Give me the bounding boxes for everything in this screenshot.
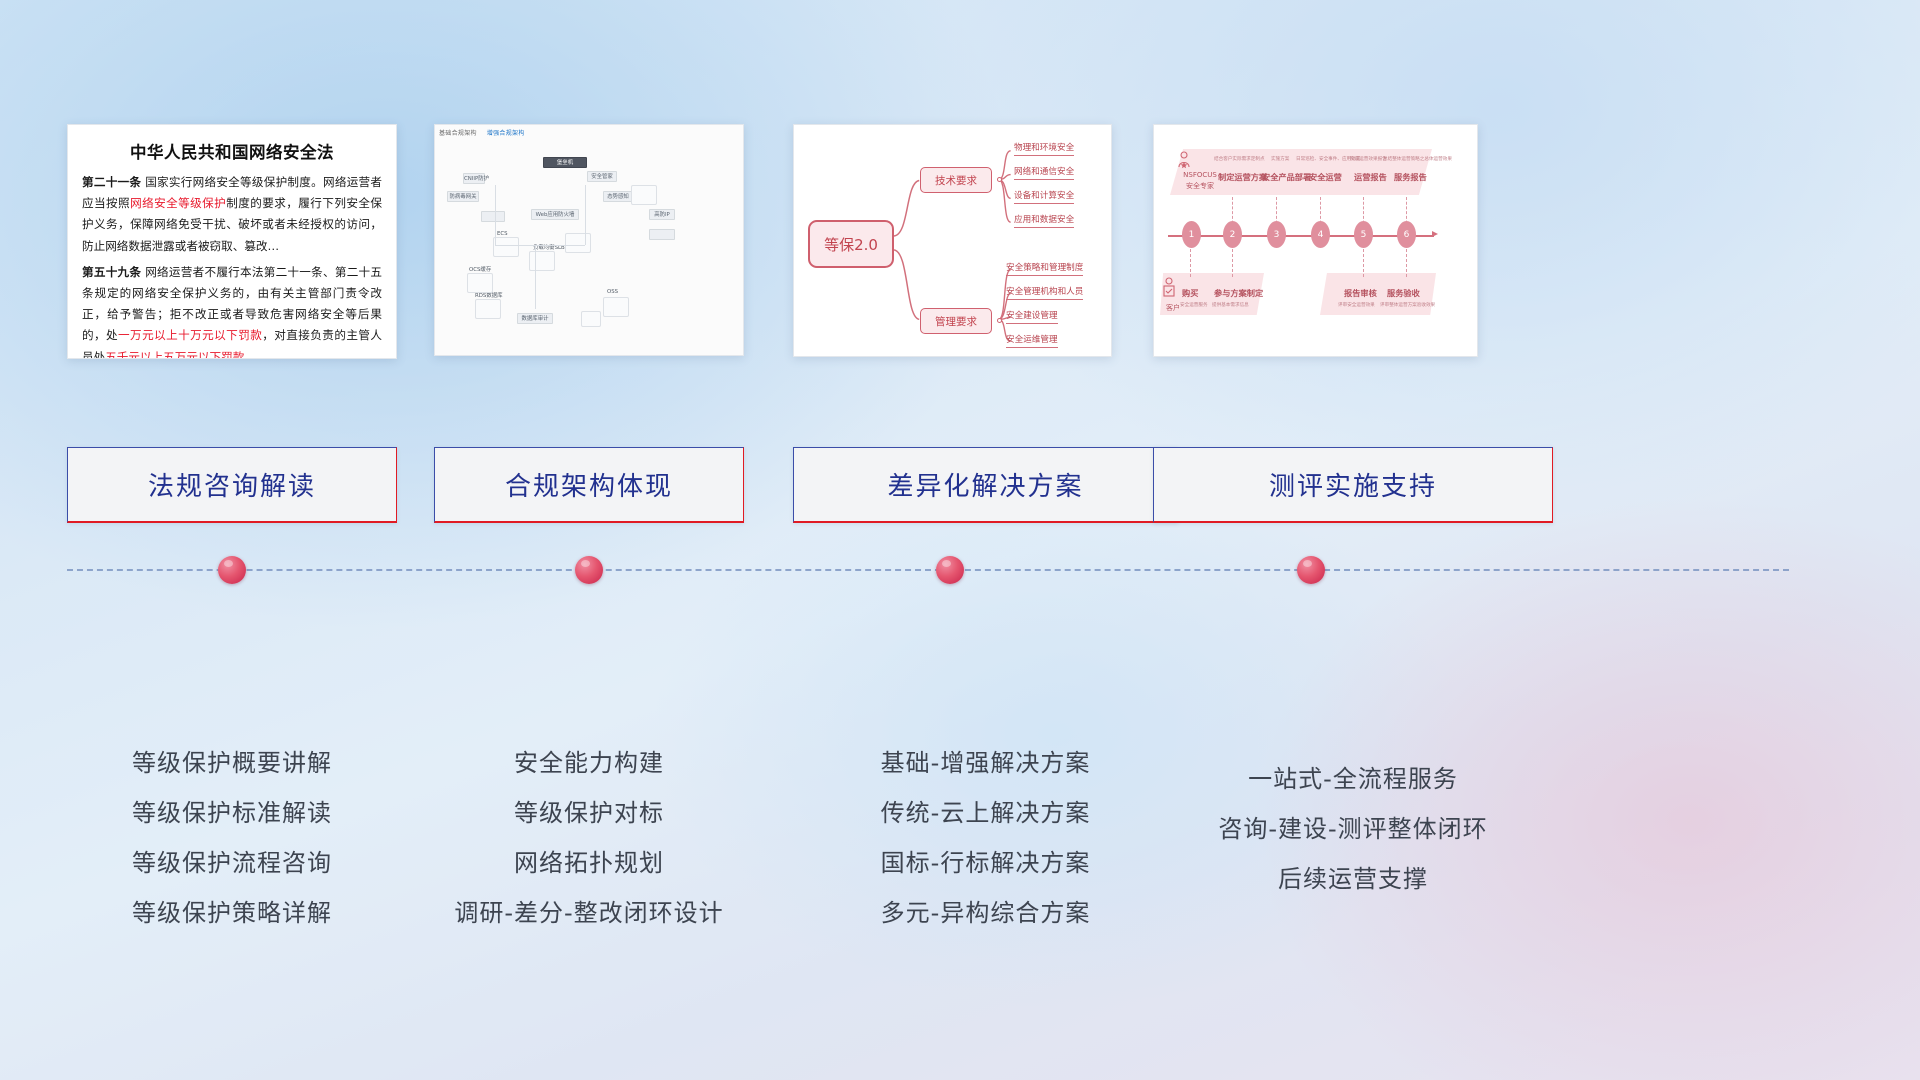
arch-node-cnd <box>565 233 591 253</box>
arch-block-antivirus: 防病毒网关 <box>447 191 479 202</box>
arch-block-waf: Web应用防火墙 <box>531 209 579 220</box>
mindmap-collapse-dot-tech[interactable] <box>997 177 1002 182</box>
arch-node-vpc <box>581 311 601 327</box>
timeline <box>0 556 1920 596</box>
nsfocus-top-title-2: 安全产品部署 <box>1262 171 1311 183</box>
list-item: 咨询-建设-测评整体闭环 <box>1153 804 1553 854</box>
nsfocus-bottom-title-4: 服务验收 <box>1387 287 1420 299</box>
arch-block-situational: 态势感知 <box>603 191 633 202</box>
nsfocus-top-title-4: 运营报告 <box>1354 171 1387 183</box>
law-article-59-highlight-2: 五千元以上五万元以下罚款 <box>105 350 244 359</box>
list-item: 安全能力构建 <box>434 738 744 788</box>
nsfocus-bottom-title-2: 参与方案制定 <box>1214 287 1263 299</box>
timeline-pin-4[interactable] <box>1297 556 1325 584</box>
law-article-59-highlight-1: 一万元以上十万元以下罚款 <box>118 328 262 342</box>
nsfocus-dash-b6 <box>1406 249 1407 277</box>
tab-enhanced-architecture: 增强合规架构 <box>487 130 525 137</box>
nsfocus-step-5: 5 <box>1354 221 1373 248</box>
list-item: 基础-增强解决方案 <box>793 738 1178 788</box>
nsfocus-timeline-diagram: NSFOCUS 安全专家 客户 结合客户实际需求定制点 实施方案 日常巡检、安全… <box>1154 125 1477 356</box>
law-article-59: 第五十九条 网络运营者不履行本法第二十一条、第二十五条规定的网络安全保护义务的，… <box>82 262 382 359</box>
law-article-21-label: 第二十一条 <box>82 175 141 189</box>
law-article-59-text-3: 。 <box>244 350 256 359</box>
mindmap-branch-technical: 技术要求 <box>920 167 992 193</box>
mindmap-leaf-policy: 安全策略和管理制度 <box>1006 261 1083 276</box>
arch-line-2 <box>495 245 585 246</box>
tab-basic-architecture: 基础合规架构 <box>439 130 477 137</box>
card-dengbao-mindmap: 等保2.0 技术要求 管理要求 物理和环境安全 网络和通信安全 设备和计算安全 … <box>793 124 1112 357</box>
nsfocus-top-title-5: 服务报告 <box>1394 171 1427 183</box>
arch-block-bastion: 堡垒机 <box>543 157 587 168</box>
detail-list-architecture: 安全能力构建 等级保护对标 网络拓扑规划 调研-差分-整改闭环设计 <box>434 738 744 938</box>
arch-node-oss <box>603 297 629 317</box>
list-item: 多元-异构综合方案 <box>793 888 1178 938</box>
feature-button-compliance-architecture[interactable]: 合规架构体现 <box>434 447 744 523</box>
arch-block-db-audit: 数据库审计 <box>517 313 553 324</box>
arch-block-guard: 安全管家 <box>587 171 617 182</box>
arch-line-1 <box>495 185 496 245</box>
timeline-dashed-rule <box>67 569 1789 571</box>
mindmap-leaf-application: 应用和数据安全 <box>1014 213 1074 228</box>
arch-block-cniip <box>649 229 675 240</box>
list-item: 后续运营支撑 <box>1153 854 1553 904</box>
nsfocus-bottom-title-1: 购买 <box>1182 287 1198 299</box>
mindmap-leaf-physical: 物理和环境安全 <box>1014 141 1074 156</box>
arch-node-slb <box>529 251 555 271</box>
list-item: 等级保护流程咨询 <box>67 838 397 888</box>
feature-button-differentiated-solution[interactable]: 差异化解决方案 <box>793 447 1178 523</box>
nsfocus-axis-line <box>1168 235 1434 237</box>
nsfocus-top-title-1: 制定运营方案 <box>1218 171 1267 183</box>
arch-label-oss: OSS <box>607 289 618 295</box>
expert-person-icon <box>1176 151 1192 169</box>
list-item: 国标-行标解决方案 <box>793 838 1178 888</box>
nsfocus-axis-arrow <box>1432 231 1438 237</box>
detail-list-row: 等级保护概要讲解 等级保护标准解读 等级保护流程咨询 等级保护策略详解 安全能力… <box>0 738 1920 958</box>
nsfocus-bottom-sub-3: 评审安全运营效果 <box>1338 302 1375 308</box>
arch-line-3 <box>585 185 586 245</box>
nsfocus-bottom-sub-2: 提供基本需求信息 <box>1212 302 1249 308</box>
mindmap-leaf-org: 安全管理机构和人员 <box>1006 285 1083 300</box>
card-cybersecurity-law: 中华人民共和国网络安全法 第二十一条 国家实行网络安全等级保护制度。网络运营者应… <box>67 124 397 359</box>
list-item: 传统-云上解决方案 <box>793 788 1178 838</box>
card-nsfocus-service-flow: NSFOCUS 安全专家 客户 结合客户实际需求定制点 实施方案 日常巡检、安全… <box>1153 124 1478 357</box>
detail-list-regulation: 等级保护概要讲解 等级保护标准解读 等级保护流程咨询 等级保护策略详解 <box>67 738 397 938</box>
law-article-21-highlight: 网络安全等级保护 <box>130 196 226 210</box>
timeline-pin-2[interactable] <box>575 556 603 584</box>
nsfocus-top-sub-1: 结合客户实际需求定制点 <box>1214 156 1265 162</box>
nsfocus-dash-b2 <box>1232 249 1233 277</box>
arch-block-scan <box>481 211 505 222</box>
timeline-pin-1[interactable] <box>218 556 246 584</box>
arch-node-ecs <box>493 237 519 257</box>
arch-block-highdef: 高防IP <box>649 209 675 220</box>
law-document: 中华人民共和国网络安全法 第二十一条 国家实行网络安全等级保护制度。网络运营者应… <box>68 125 396 359</box>
nsfocus-bottom-title-3: 报告审核 <box>1344 287 1377 299</box>
nsfocus-dash-b5 <box>1363 249 1364 277</box>
mindmap-branch-management: 管理要求 <box>920 308 992 334</box>
feature-button-row: 法规咨询解读 合规架构体现 差异化解决方案 测评实施支持 <box>0 447 1920 523</box>
law-article-21: 第二十一条 国家实行网络安全等级保护制度。网络运营者应当按照网络安全等级保护制度… <box>82 172 382 257</box>
arch-node-rds <box>475 299 501 319</box>
list-item: 等级保护对标 <box>434 788 744 838</box>
reference-card-row: 中华人民共和国网络安全法 第二十一条 国家实行网络安全等级保护制度。网络运营者应… <box>0 124 1920 364</box>
slide-canvas: 中华人民共和国网络安全法 第二十一条 国家实行网络安全等级保护制度。网络运营者应… <box>0 0 1920 1080</box>
nsfocus-step-4: 4 <box>1311 221 1330 248</box>
law-title: 中华人民共和国网络安全法 <box>82 139 382 163</box>
architecture-tabs: 基础合规架构增强合规架构 <box>439 128 535 137</box>
nsfocus-step-1: 1 <box>1182 221 1201 248</box>
mindmap-diagram: 等保2.0 技术要求 管理要求 物理和环境安全 网络和通信安全 设备和计算安全 … <box>794 125 1111 356</box>
timeline-pin-3[interactable] <box>936 556 964 584</box>
nsfocus-bottom-sub-4: 评审整体运营方案验收效果 <box>1380 302 1435 308</box>
list-item: 等级保护策略详解 <box>67 888 397 938</box>
nsfocus-top-sub-5: 总结整体运营策略之总体运营效果 <box>1383 156 1452 162</box>
nsfocus-step-3: 3 <box>1267 221 1286 248</box>
feature-button-assessment-support[interactable]: 测评实施支持 <box>1153 447 1553 523</box>
nsfocus-bottom-sub-1: 安全运营服务 <box>1180 302 1208 308</box>
list-item: 等级保护标准解读 <box>67 788 397 838</box>
feature-button-label-2: 合规架构体现 <box>505 466 673 503</box>
mindmap-leaf-construction: 安全建设管理 <box>1006 309 1058 324</box>
arch-node-monitor <box>631 185 657 205</box>
nsfocus-brand-label: NSFOCUS <box>1178 171 1222 179</box>
nsfocus-top-sub-4: 阶段运营效果报告 <box>1350 156 1387 162</box>
list-item: 一站式-全流程服务 <box>1153 754 1553 804</box>
feature-button-label-3: 差异化解决方案 <box>887 466 1083 503</box>
arch-node-ocs <box>467 273 493 293</box>
detail-list-solution: 基础-增强解决方案 传统-云上解决方案 国标-行标解决方案 多元-异构综合方案 <box>793 738 1178 938</box>
card-compliance-architecture: 基础合规架构增强合规架构 堡垒机 CNIIP防护 安全管家 防病毒网关 态势感知… <box>434 124 744 356</box>
mindmap-collapse-dot-mgmt[interactable] <box>997 318 1002 323</box>
mindmap-leaf-network: 网络和通信安全 <box>1014 165 1074 180</box>
feature-button-regulation-consulting[interactable]: 法规咨询解读 <box>67 447 397 523</box>
arch-block-wg: CNIIP防护 <box>463 173 485 184</box>
nsfocus-step-2: 2 <box>1223 221 1242 248</box>
feature-button-label-4: 测评实施支持 <box>1269 466 1437 503</box>
arch-line-4 <box>535 245 536 309</box>
nsfocus-expert-role: 安全专家 <box>1178 181 1222 191</box>
customer-person-icon <box>1162 277 1176 299</box>
mindmap-leaf-operation: 安全运维管理 <box>1006 333 1058 348</box>
nsfocus-step-6: 6 <box>1397 221 1416 248</box>
detail-list-assessment: 一站式-全流程服务 咨询-建设-测评整体闭环 后续运营支撑 <box>1153 754 1553 904</box>
arch-label-ocs: OCS缓存 <box>469 265 491 273</box>
list-item: 等级保护概要讲解 <box>67 738 397 788</box>
feature-button-label-1: 法规咨询解读 <box>148 466 316 503</box>
mindmap-leaf-device: 设备和计算安全 <box>1014 189 1074 204</box>
list-item: 调研-差分-整改闭环设计 <box>434 888 744 938</box>
architecture-diagram: 基础合规架构增强合规架构 堡垒机 CNIIP防护 安全管家 防病毒网关 态势感知… <box>435 125 743 355</box>
nsfocus-top-sub-2: 实施方案 <box>1271 156 1289 162</box>
nsfocus-dash-b1 <box>1190 249 1191 277</box>
list-item: 网络拓扑规划 <box>434 838 744 888</box>
mindmap-root: 等保2.0 <box>808 220 894 268</box>
law-article-59-label: 第五十九条 <box>82 265 141 279</box>
nsfocus-top-title-3: 安全运营 <box>1309 171 1342 183</box>
